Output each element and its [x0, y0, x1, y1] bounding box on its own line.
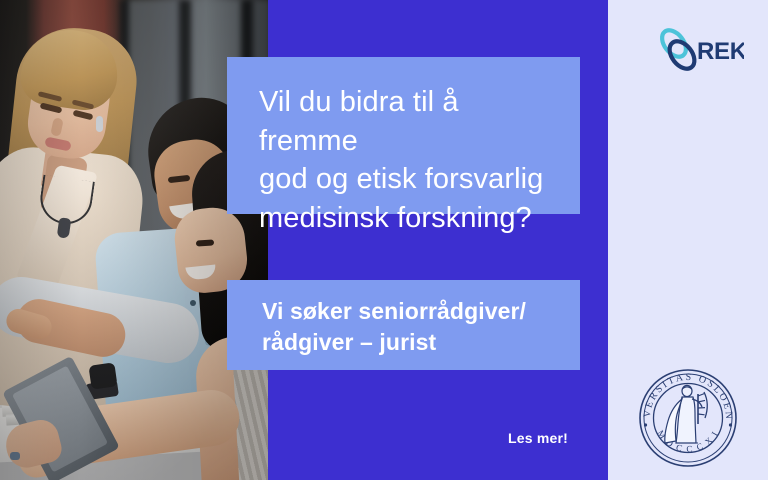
photo-smartwatch	[88, 362, 117, 389]
uio-seal[interactable]: UNIVERSITAS OSLOENSIS M D C C C X I	[632, 362, 744, 474]
headline-text: Vil du bidra til å fremme god og etisk f…	[259, 83, 550, 237]
photo-woman-standing-earring	[96, 116, 103, 132]
headline-box: Vil du bidra til å fremme god og etisk f…	[227, 57, 580, 214]
recruitment-banner: REK UNIVERSITAS OSLOENSIS	[0, 0, 768, 480]
photo-man-shirt-button	[190, 300, 196, 306]
rek-interlocking-ellipses-icon: REK	[648, 26, 744, 74]
rek-wordmark: REK	[697, 38, 744, 65]
photo-woman-front-eye	[196, 239, 214, 246]
rek-logo[interactable]: REK	[648, 26, 744, 74]
job-title-text: Vi søker seniorrådgiver/ rådgiver – juri…	[262, 296, 550, 358]
photo-woman-standing-ring	[10, 452, 20, 460]
read-more-link[interactable]: Les mer!	[508, 430, 568, 446]
job-title-box: Vi søker seniorrådgiver/ rådgiver – juri…	[227, 280, 580, 370]
uio-apollo-seal-icon: UNIVERSITAS OSLOENSIS M D C C C X I	[632, 362, 744, 474]
